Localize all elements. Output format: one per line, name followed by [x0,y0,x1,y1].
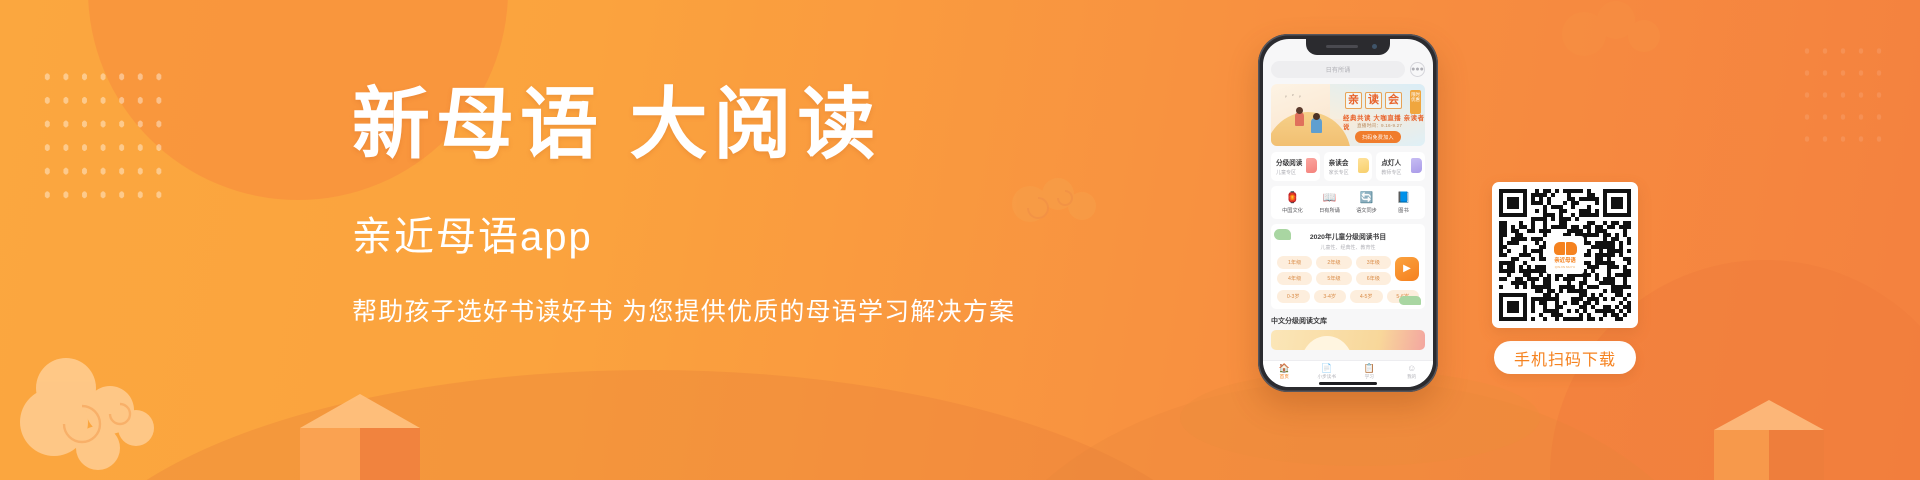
category-cards: 分级阅读 儿童专区 亲读会 家长专区 点灯人 教师专区 [1271,152,1425,181]
promo-title-char: 读 [1365,92,1382,109]
banner-text-block: 新母语 大阅读 亲近母语app 帮助孩子选好书读好书 为您提供优质的母语学习解决… [352,86,1052,328]
bookmark-icon [1358,158,1369,173]
promo-card[interactable]: ᵥ ᵛ ᵥ 亲 读 会 限时优惠 经典共读 大咖直播 亲读者说 直播时间：9.1… [1271,84,1425,146]
quick-icon-sync[interactable]: 🔄 语文同步 [1348,192,1385,214]
booklist-section: 2020年儿童分级阅读书目 儿童性、经典性、教育性 1年级 2年级 3年级 4年… [1271,224,1425,309]
quick-icon-label: 语文同步 [1348,207,1385,214]
promo-title: 亲 读 会 [1345,92,1402,109]
tab-label: 小步读书 [1306,374,1349,380]
grade-pill[interactable]: 5年级 [1316,272,1351,285]
kid-illustration-2 [1311,118,1322,133]
quick-icon-recite[interactable]: 📖 日有所诵 [1311,192,1348,214]
bottom-tab-bar: 🏠 首页 📄 小步读书 📋 学习 ☺ 我的 [1263,360,1433,387]
phone-screen: 日有所诵 ●●● ᵥ ᵛ ᵥ 亲 读 会 限时优惠 经典共读 大咖直播 亲 [1263,39,1433,387]
page-title: 新母语 大阅读 [352,86,1052,164]
decor-hill-right [970,380,1730,480]
promo-ribbon: 限时优惠 [1410,90,1421,114]
cloud-icon-top-right [1550,0,1670,70]
app-name: 亲近母语app [352,204,1052,262]
message-icon[interactable]: ●●● [1410,62,1425,77]
tab-study[interactable]: 📋 学习 [1348,363,1391,380]
booklist-title: 2020年儿童分级阅读书目 [1277,231,1419,241]
birds-icon: ᵥ ᵛ ᵥ [1285,93,1303,99]
bookmark-icon [1306,158,1317,173]
grade-pill[interactable]: 3年级 [1356,256,1391,269]
qr-card: 亲近母语 QINJIN MUYU [1492,182,1638,328]
phone-mockup: 日有所诵 ●●● ᵥ ᵛ ᵥ 亲 读 会 限时优惠 经典共读 大咖直播 亲 [1258,34,1438,392]
promo-title-char: 亲 [1345,92,1362,109]
decor-dot-grid-right [1798,40,1890,150]
home-indicator [1319,382,1377,385]
person-icon: ☺ [1391,363,1434,373]
promo-banner: 新母语 大阅读 亲近母语app 帮助孩子选好书读好书 为您提供优质的母语学习解决… [0,0,1920,480]
age-pill[interactable]: 0-3岁 [1277,290,1310,303]
decor-dot-grid [36,63,172,211]
cloud-icon-bottom-left [18,356,168,476]
book-icon [1554,242,1577,255]
leaf-icon-right [1399,296,1421,305]
sync-icon: 🔄 [1348,192,1385,205]
home-icon: 🏠 [1263,363,1306,373]
category-card-parent-club[interactable]: 亲读会 家长专区 [1324,152,1373,181]
decor-cube-right [1714,400,1824,480]
age-pill[interactable]: 3-4岁 [1314,290,1347,303]
grade-pill[interactable]: 1年级 [1277,256,1312,269]
library-banner[interactable] [1271,330,1425,350]
library-section-title: 中文分级阅读文库 [1271,316,1425,326]
tab-reading[interactable]: 📄 小步读书 [1306,363,1349,380]
grade-pill[interactable]: 2年级 [1316,256,1351,269]
quick-icon-culture[interactable]: 🏮 中国文化 [1274,192,1311,214]
qr-center-logo: 亲近母语 QINJIN MUYU [1546,236,1584,274]
books-icon: 📘 [1385,192,1422,205]
culture-icon: 🏮 [1274,192,1311,205]
play-video-button[interactable]: ▶ [1395,257,1419,281]
quick-icon-label: 日有所诵 [1311,207,1348,214]
tab-home[interactable]: 🏠 首页 [1263,363,1306,380]
phone-notch [1306,39,1390,55]
age-pill[interactable]: 4-5岁 [1350,290,1383,303]
grade-pill[interactable]: 6年级 [1356,272,1391,285]
search-input[interactable]: 日有所诵 [1271,61,1405,78]
category-card-teacher[interactable]: 点灯人 教师专区 [1376,152,1425,181]
booklist-subtitle: 儿童性、经典性、教育性 [1277,244,1419,251]
brand-name: 亲近母语 [1554,256,1576,264]
recite-icon: 📖 [1311,192,1348,205]
grade-pill[interactable]: 4年级 [1277,272,1312,285]
promo-title-char: 会 [1385,92,1402,109]
qr-block: 亲近母语 QINJIN MUYU 手机扫码下载 [1492,182,1638,374]
promo-join-button[interactable]: 扫码免费加入 [1355,131,1401,143]
quick-icon-books[interactable]: 📘 图书 [1385,192,1422,214]
promo-date: 直播时间：9.16-9.27 [1357,123,1402,129]
tab-label: 首页 [1263,374,1306,380]
bookmark-icon [1411,158,1422,173]
download-button[interactable]: 手机扫码下载 [1494,341,1636,374]
decor-hill-left [60,370,1240,480]
brand-name-en: QINJIN MUYU [1555,265,1575,269]
leaf-icon-left [1274,229,1291,240]
category-card-graded-reading[interactable]: 分级阅读 儿童专区 [1271,152,1320,181]
quick-icon-row: 🏮 中国文化 📖 日有所诵 🔄 语文同步 📘 图书 [1271,186,1425,219]
quick-icon-label: 图书 [1385,207,1422,214]
tab-label: 我的 [1391,374,1434,380]
quick-icon-label: 中国文化 [1274,207,1311,214]
tagline: 帮助孩子选好书读好书 为您提供优质的母语学习解决方案 [352,292,1052,328]
document-icon: 📄 [1306,363,1349,373]
tab-label: 学习 [1348,374,1391,380]
kid-illustration-1 [1295,112,1304,126]
clipboard-icon: 📋 [1348,363,1391,373]
app-search-row: 日有所诵 ●●● [1271,61,1425,78]
tab-profile[interactable]: ☺ 我的 [1391,363,1434,380]
decor-cube-left [300,394,420,480]
